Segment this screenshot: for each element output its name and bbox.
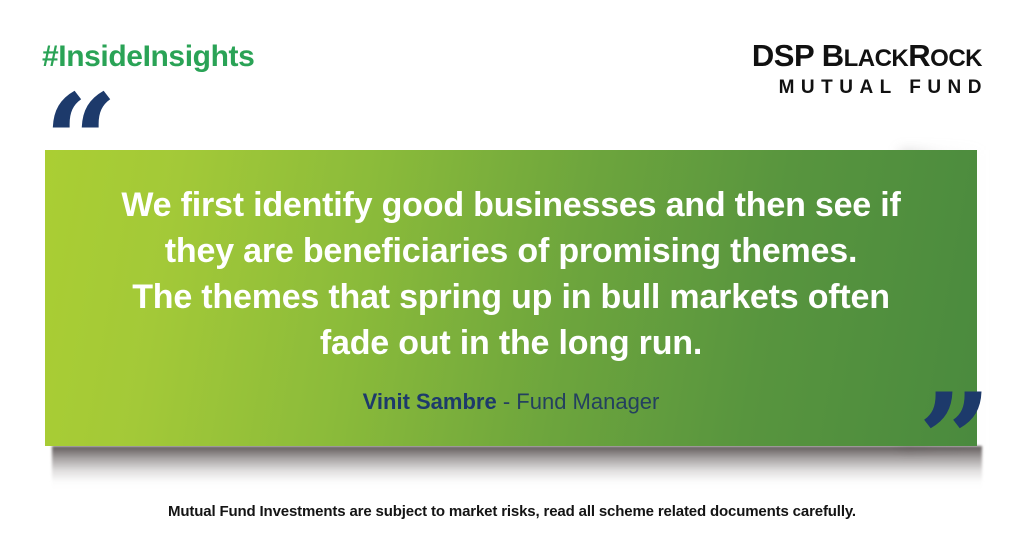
disclaimer-text: Mutual Fund Investments are subject to m… [0,503,1024,520]
logo-part-r: R [908,38,930,73]
logo-primary-text: DSP BLACKROCK [752,40,982,71]
quote-line: The themes that spring up in bull market… [65,274,957,320]
attribution-name: Vinit Sambre [363,389,497,414]
attribution-separator: - [497,389,517,414]
poster-canvas: #InsideInsights DSP BLACKROCK MUTUAL FUN… [0,0,1024,536]
attribution: Vinit Sambre - Fund Manager [45,389,977,415]
quote-line: they are beneficiaries of promising them… [65,228,957,274]
logo-part-b: B [814,38,844,73]
logo-part-lack: LACK [844,45,909,72]
closing-quote-icon: ” [918,377,992,505]
logo-part-dsp: DSP [752,38,814,73]
panel-shadow-bottom [52,446,982,488]
attribution-role: Fund Manager [516,389,659,414]
quote-line: fade out in the long run. [65,320,957,366]
brand-logo: DSP BLACKROCK MUTUAL FUND [752,40,982,97]
quote-line: We first identify good businesses and th… [65,182,957,228]
quote-text: We first identify good businesses and th… [45,182,977,366]
logo-secondary-text: MUTUAL FUND [752,78,988,97]
logo-part-ock: OCK [930,45,982,72]
